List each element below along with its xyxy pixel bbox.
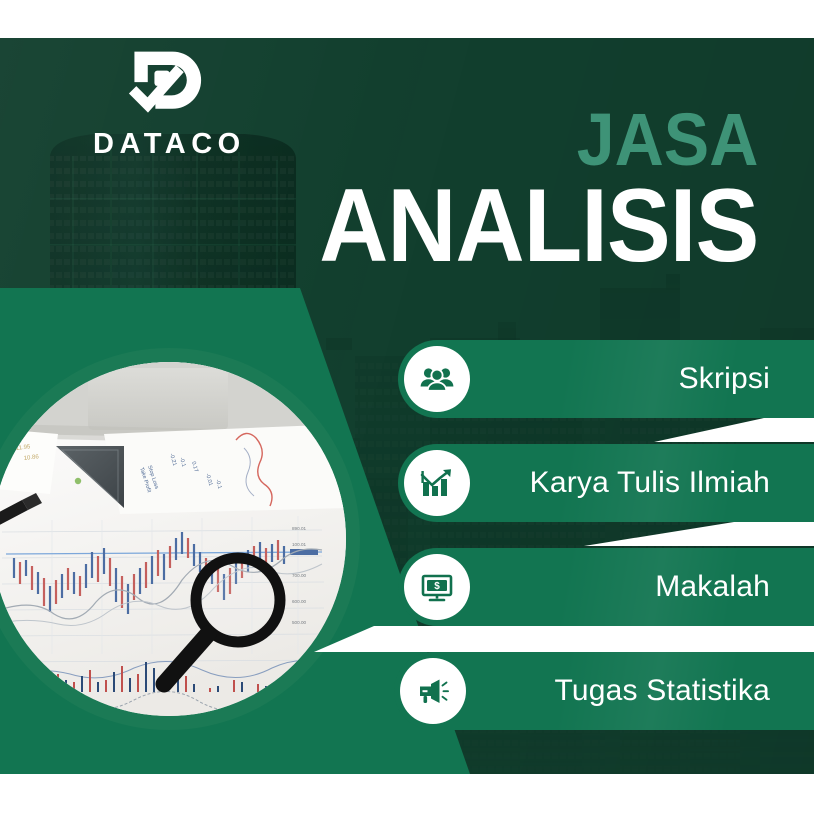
service-row-skripsi[interactable]: Skripsi xyxy=(398,340,814,418)
svg-text:$: $ xyxy=(434,581,440,592)
row-notch-3 xyxy=(314,626,814,652)
group-people-icon xyxy=(404,346,470,412)
headline-line-analisis: ANALISIS xyxy=(319,177,758,276)
green-background: 11.95 10.86 Stop Loss Take Profit -0.21 … xyxy=(0,38,814,774)
headline-line-jasa: JASA xyxy=(319,106,758,175)
megaphone-icon xyxy=(400,658,466,724)
service-label: Tugas Statistika xyxy=(554,652,770,730)
bar-chart-growth-icon xyxy=(404,450,470,516)
service-row-makalah[interactable]: $ Makalah xyxy=(398,548,814,626)
bottom-white-band xyxy=(0,774,814,814)
top-white-band xyxy=(0,0,814,38)
service-row-tugas-statistika[interactable]: Tugas Statistika xyxy=(394,652,814,730)
dataco-d-check-logo xyxy=(117,44,209,124)
service-label: Skripsi xyxy=(679,340,770,418)
service-label: Karya Tulis Ilmiah xyxy=(530,444,770,522)
poster-canvas: 11.95 10.86 Stop Loss Take Profit -0.21 … xyxy=(0,0,814,814)
brand-wordmark: DATACO xyxy=(88,130,238,159)
brand-logo[interactable]: DATACO xyxy=(88,44,238,159)
headline: JASA ANALISIS xyxy=(281,106,758,276)
service-label: Makalah xyxy=(655,548,770,626)
row-notch-2 xyxy=(584,522,814,546)
service-row-karya-tulis-ilmiah[interactable]: Karya Tulis Ilmiah xyxy=(398,444,814,522)
monitor-dollar-icon: $ xyxy=(404,554,470,620)
row-notch-1 xyxy=(654,418,814,442)
